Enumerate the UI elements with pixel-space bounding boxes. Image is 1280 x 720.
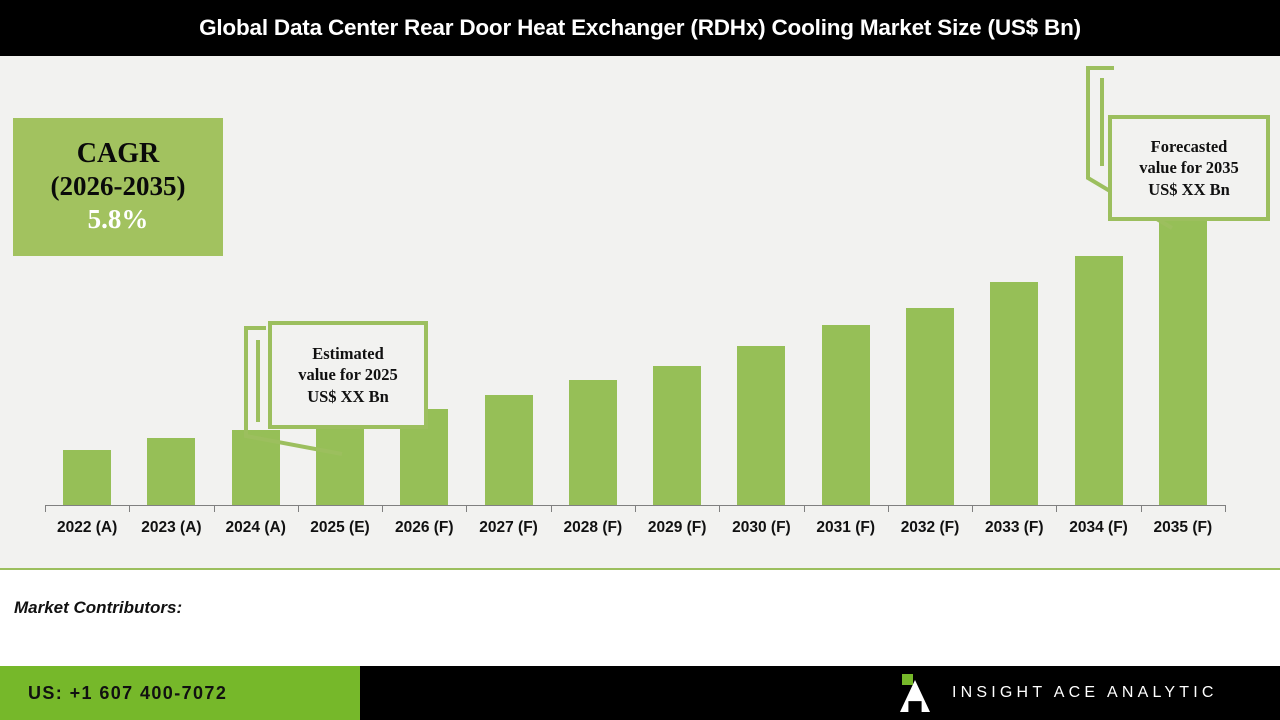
cagr-box: CAGR (2026-2035) 5.8% [13,118,223,256]
market-contributors-strip: Market Contributors: BOYD CORPORATION VE… [0,568,1280,666]
market-contributors-label: Market Contributors: [14,598,182,618]
x-axis-label: 2028 (F) [551,519,635,537]
callout-estimated-line2: value for 2025 [298,364,398,385]
x-axis-label: 2031 (F) [804,519,888,537]
callout-forecasted-line1: Forecasted [1151,136,1228,157]
x-axis-label: 2030 (F) [719,519,803,537]
callout-estimated-line3: US$ XX Bn [307,386,389,407]
callout-forecasted: Forecasted value for 2035 US$ XX Bn [1108,115,1270,221]
x-axis-label: 2033 (F) [972,519,1056,537]
bar-2029-f- [653,366,701,505]
x-axis-label: 2022 (A) [45,519,129,537]
infographic-page: Global Data Center Rear Door Heat Exchan… [0,0,1280,720]
footer-phone[interactable]: US: +1 607 400-7072 [0,683,227,704]
callout-forecasted-line2: value for 2035 [1139,157,1239,178]
x-axis-label: 2024 (A) [214,519,298,537]
bar-2022-a- [63,450,111,505]
cagr-period: (2026-2035) [51,171,186,202]
x-axis-label: 2025 (E) [298,519,382,537]
bar-2025-e- [316,418,364,505]
page-title: Global Data Center Rear Door Heat Exchan… [199,15,1081,41]
footer-contact-band: US: +1 607 400-7072 [0,666,360,720]
callout-estimated: Estimated value for 2025 US$ XX Bn [268,321,428,429]
x-axis-labels: 2022 (A)2023 (A)2024 (A)2025 (E)2026 (F)… [0,511,1280,551]
cagr-label: CAGR [77,138,159,170]
x-axis-label: 2029 (F) [635,519,719,537]
x-axis-label: 2023 (A) [129,519,213,537]
footer-bar: US: +1 607 400-7072 INSIGHT ACE ANALYTIC [0,666,1280,720]
title-bar: Global Data Center Rear Door Heat Exchan… [0,0,1280,56]
callout-estimated-line1: Estimated [312,343,384,364]
bar-2035-f- [1159,218,1207,505]
cagr-value: 5.8% [88,204,149,235]
bar-2023-a- [147,438,195,505]
x-axis-label: 2032 (F) [888,519,972,537]
x-axis-label: 2034 (F) [1056,519,1140,537]
chart-panel: 2022 (A)2023 (A)2024 (A)2025 (E)2026 (F)… [0,56,1280,568]
bar-2024-a- [232,430,280,505]
footer-brand-text: INSIGHT ACE ANALYTIC [952,684,1218,702]
callout-forecasted-line3: US$ XX Bn [1148,179,1230,200]
insight-ace-logo-icon [900,674,930,712]
x-axis-label: 2026 (F) [382,519,466,537]
bar-2028-f- [569,380,617,505]
x-axis-label: 2035 (F) [1141,519,1225,537]
bar-2027-f- [485,395,533,505]
footer-brand: INSIGHT ACE ANALYTIC [900,666,1218,720]
bar-2031-f- [822,325,870,505]
bar-2034-f- [1075,256,1123,505]
bar-2032-f- [906,308,954,505]
bar-2033-f- [990,282,1038,505]
x-axis-label: 2027 (F) [466,519,550,537]
bar-2030-f- [737,346,785,506]
